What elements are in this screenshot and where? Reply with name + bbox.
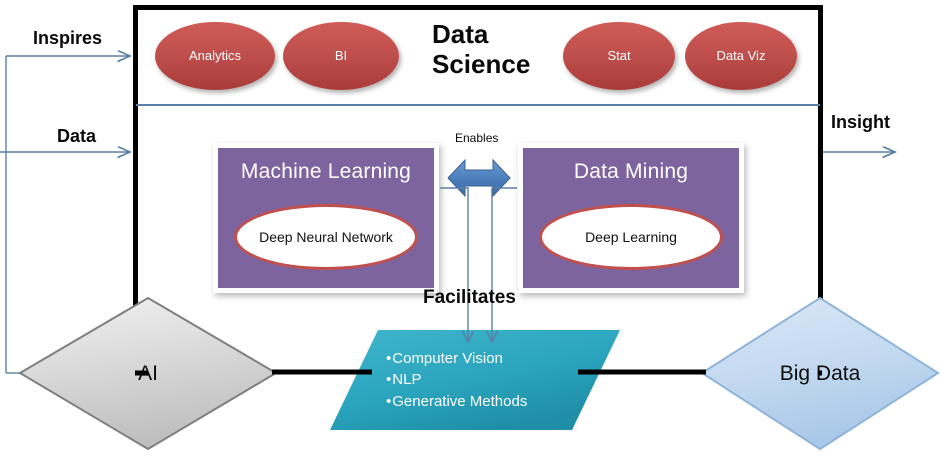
page-title-line2: Science <box>432 50 582 80</box>
list-item-label: NLP <box>392 371 421 388</box>
concept-ellipse-deep-neural-network[interactable]: Deep Neural Network <box>234 204 418 270</box>
list-item-label: Generative Methods <box>392 393 527 410</box>
label-facilitates: Facilitates <box>423 287 516 309</box>
ellipse-stat-label: Stat <box>607 49 630 63</box>
concept-ellipse-deep-neural-network-label: Deep Neural Network <box>259 229 393 245</box>
parallelogram-applications[interactable]: •Computer Vision •NLP •Generative Method… <box>330 330 620 430</box>
diamond-ai-label: AI <box>18 296 278 451</box>
concept-box-machine-learning[interactable]: Machine Learning Deep Neural Network <box>213 143 439 293</box>
enables-double-arrow-icon <box>448 155 510 201</box>
ellipse-bi-label: BI <box>335 49 347 63</box>
concept-ellipse-deep-learning-label: Deep Learning <box>585 229 677 245</box>
list-item: •NLP <box>386 369 527 390</box>
ellipse-data-viz-label: Data Viz <box>717 49 766 63</box>
list-item-label: Computer Vision <box>392 350 503 367</box>
concept-ellipse-deep-learning[interactable]: Deep Learning <box>539 204 723 270</box>
ellipse-data-viz[interactable]: Data Viz <box>685 22 797 90</box>
ellipse-analytics-label: Analytics <box>189 49 241 63</box>
list-item: •Computer Vision <box>386 348 527 369</box>
section-divider <box>136 104 820 106</box>
concept-title-data-mining: Data Mining <box>523 160 739 184</box>
page-title: Data Science <box>432 20 582 80</box>
label-enables: Enables <box>455 131 498 145</box>
diamond-big-data[interactable]: Big Data <box>700 296 940 451</box>
label-insight: Insight <box>831 112 890 133</box>
diamond-big-data-label: Big Data <box>700 296 940 451</box>
concept-title-machine-learning: Machine Learning <box>218 160 434 184</box>
ellipse-analytics[interactable]: Analytics <box>155 22 275 90</box>
applications-list: •Computer Vision •NLP •Generative Method… <box>386 348 527 412</box>
concept-inner-data-mining: Data Mining Deep Learning <box>523 148 739 288</box>
ellipse-bi[interactable]: BI <box>283 22 399 90</box>
page-title-line1: Data <box>432 20 582 50</box>
diamond-ai[interactable]: AI <box>18 296 278 451</box>
concept-box-data-mining[interactable]: Data Mining Deep Learning <box>518 143 744 293</box>
diagram-canvas: Analytics BI Stat Data Viz Data Science … <box>0 0 941 457</box>
list-item: •Generative Methods <box>386 391 527 412</box>
frame-top-edge <box>133 5 823 10</box>
label-data: Data <box>57 126 96 147</box>
label-inspires: Inspires <box>33 28 102 49</box>
concept-inner-machine-learning: Machine Learning Deep Neural Network <box>218 148 434 288</box>
